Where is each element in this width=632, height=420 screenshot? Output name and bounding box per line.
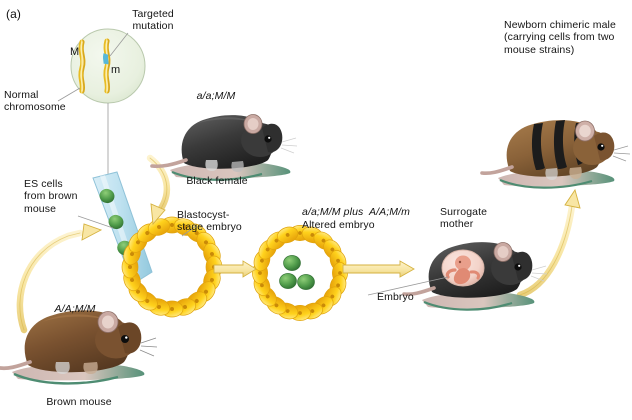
chimera-eye-glint [601, 145, 603, 147]
brown-mouse-belly [55, 362, 69, 374]
embryo-label: Embryo [377, 291, 414, 303]
arrow-surrogate-to-chimera [520, 190, 580, 295]
chimera-belly [545, 168, 557, 180]
surrogate-eye-glint [518, 265, 520, 267]
surrogate-mother-label: Surrogate mother [440, 206, 487, 231]
blastocyst-label: Blastocyst- stage embryo [177, 209, 242, 234]
brown-mouse-tail [0, 362, 30, 368]
chimera-whiskers [613, 146, 630, 161]
chromosome-m-label: m [111, 64, 120, 76]
surrogate-ear-inner [498, 246, 509, 258]
brown-mouse-whiskers [140, 338, 157, 356]
black-female-mouse [152, 115, 297, 180]
chimera-foot [569, 167, 581, 179]
injected-es-cell-2 [280, 273, 297, 288]
panel-id: (a) [6, 8, 21, 20]
injected-es-cell-3 [298, 274, 315, 289]
chromosome-M-label: M [70, 46, 79, 58]
brown-mouse-genotype-label: A/A;M/M [30, 303, 120, 315]
black-mouse-belly [205, 160, 217, 171]
targeted-mutation-marker [105, 54, 106, 64]
normal-chromosome-label: Normal chromosome [4, 89, 66, 114]
targeted-mutation-label: Targeted mutation [108, 8, 198, 33]
altered-embryo-label: Altered embryo [302, 219, 375, 231]
altered-embryo-genotype-label: a/a;M/M plus A/A;M/m [302, 206, 410, 218]
black-mouse-ear-inner [248, 118, 259, 130]
chimera-tail [482, 167, 512, 173]
altered-embryo-cell-ring [251, 224, 348, 321]
black-mouse-eye [264, 135, 271, 142]
brown-mouse-eye [121, 335, 129, 343]
altered-embryo [251, 224, 348, 321]
black-female-label: Black female [172, 175, 262, 187]
injected-es-cell-1 [284, 255, 301, 270]
newborn-chimeric-label: Newborn chimeric male (carrying cells fr… [504, 19, 616, 56]
es-cells-label: ES cells from brown mouse [24, 178, 78, 215]
black-mouse-eye-glint [268, 137, 270, 139]
arrow-altered-embryo-to-surrogate [343, 261, 414, 277]
black-mouse-whiskers [281, 138, 297, 153]
figure-canvas: (a) Targeted mutation Normal chromosome … [0, 0, 632, 420]
chimeric-mouse [482, 120, 630, 188]
brown-mouse-eye-glint [125, 336, 127, 338]
brown-mouse-foot [83, 362, 97, 374]
brown-mouse-label: Brown mouse [24, 396, 134, 408]
chimera-eye [597, 143, 604, 150]
black-mouse-foot [231, 161, 243, 172]
black-female-genotype-label: a/a;M/M [176, 90, 256, 102]
chimera-ear-inner [579, 125, 591, 137]
brown-mouse-ear-inner [102, 316, 114, 329]
surrogate-eye [514, 263, 521, 270]
